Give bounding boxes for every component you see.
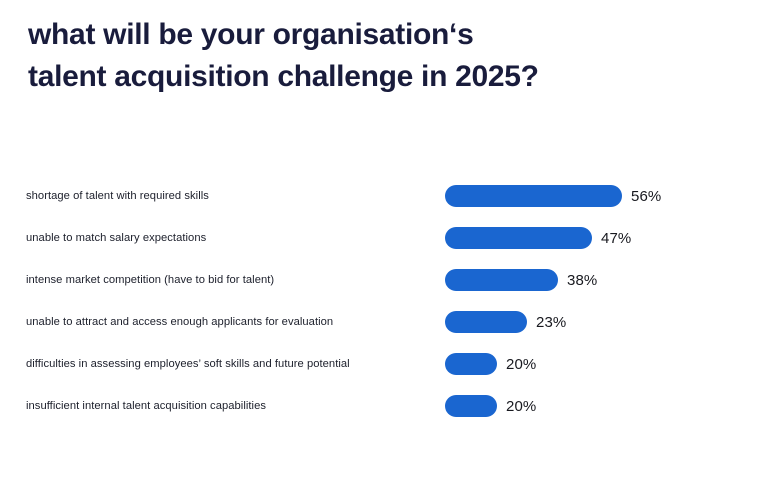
bar-row: shortage of talent with required skills … [0, 183, 758, 209]
bar-chart: shortage of talent with required skills … [0, 172, 758, 442]
bar-category-label: shortage of talent with required skills [26, 183, 209, 209]
bar-row: difficulties in assessing employees’ sof… [0, 351, 758, 377]
bar-category-label: difficulties in assessing employees’ sof… [26, 351, 350, 377]
bar-fill [445, 269, 558, 291]
bar-track: 20% [445, 351, 536, 377]
bar-category-label: intense market competition (have to bid … [26, 267, 274, 293]
bar-category-label: unable to attract and access enough appl… [26, 309, 333, 335]
bar-value-label: 47% [601, 231, 631, 246]
bar-track: 56% [445, 183, 661, 209]
bar-value-label: 23% [536, 315, 566, 330]
bar-row: intense market competition (have to bid … [0, 267, 758, 293]
page-title: what will be your organisation‘s talent … [28, 14, 688, 98]
bar-value-label: 20% [506, 357, 536, 372]
bar-track: 38% [445, 267, 597, 293]
bar-track: 20% [445, 393, 536, 419]
bar-value-label: 20% [506, 399, 536, 414]
page-title-line-1: what will be your organisation‘s [28, 14, 688, 56]
bar-fill [445, 353, 497, 375]
bar-category-label: insufficient internal talent acquisition… [26, 393, 266, 419]
page-title-line-2: talent acquisition challenge in 2025? [28, 56, 688, 98]
bar-fill [445, 395, 497, 417]
bar-fill [445, 185, 622, 207]
bar-track: 23% [445, 309, 566, 335]
bar-fill [445, 227, 592, 249]
bar-fill [445, 311, 527, 333]
bar-track: 47% [445, 225, 631, 251]
bar-row: unable to match salary expectations 47% [0, 225, 758, 251]
bar-row: insufficient internal talent acquisition… [0, 393, 758, 419]
bar-category-label: unable to match salary expectations [26, 225, 206, 251]
bar-value-label: 56% [631, 189, 661, 204]
bar-row: unable to attract and access enough appl… [0, 309, 758, 335]
bar-value-label: 38% [567, 273, 597, 288]
